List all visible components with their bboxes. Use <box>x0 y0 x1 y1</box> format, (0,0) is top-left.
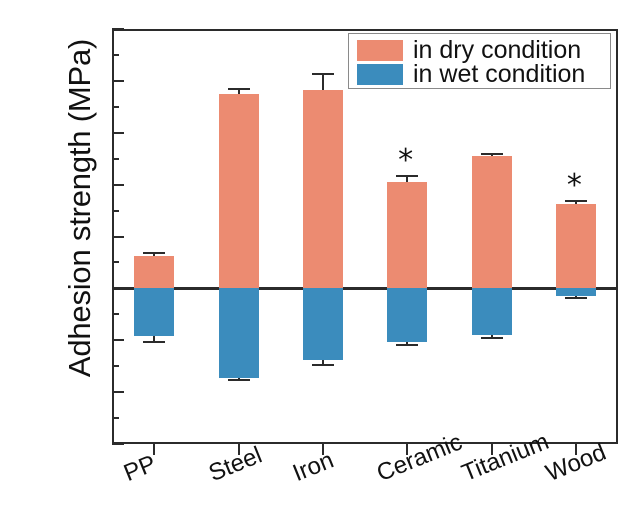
bar-dry-ceramic <box>387 182 427 288</box>
bar-wet-titanium <box>472 288 512 335</box>
error-bar-cap-dry-titanium <box>481 153 503 155</box>
bar-wet-ceramic <box>387 288 427 341</box>
bar-wet-iron <box>303 288 343 359</box>
y-axis-title: Adhesion strength (MPa) <box>62 0 98 418</box>
chart-figure: Adhesion strength (MPa) 1086420246 ** PP… <box>0 0 630 519</box>
error-bar-cap-wet-pp <box>143 341 165 343</box>
error-bar-cap-wet-steel <box>228 379 250 381</box>
bar-dry-iron <box>303 90 343 288</box>
bar-wet-wood <box>556 288 596 296</box>
bar-dry-titanium <box>472 156 512 288</box>
error-bar-cap-wet-titanium <box>481 337 503 339</box>
x-tick-label-iron: Iron <box>289 447 338 488</box>
zero-baseline <box>112 287 618 290</box>
bar-wet-steel <box>219 288 259 377</box>
error-bar-cap-wet-wood <box>565 297 587 299</box>
x-tick-label-pp: PP <box>120 450 160 488</box>
error-bar-cap-wet-iron <box>312 364 334 366</box>
significance-marker-ceramic: * <box>398 146 413 176</box>
x-tick-label-steel: Steel <box>205 442 266 488</box>
bar-wet-pp <box>134 288 174 336</box>
legend-swatch-dry <box>357 40 403 61</box>
x-tick-pp <box>153 444 155 455</box>
error-bar-stem-dry-iron <box>322 74 324 90</box>
legend-label-wet: in wet condition <box>413 61 585 87</box>
error-bar-cap-dry-pp <box>143 252 165 254</box>
legend: in dry condition in wet condition <box>348 33 611 89</box>
significance-marker-wood: * <box>567 171 582 201</box>
error-bar-cap-dry-iron <box>312 73 334 75</box>
bar-dry-wood <box>556 204 596 288</box>
error-bar-cap-dry-steel <box>228 88 250 90</box>
error-bar-cap-wet-ceramic <box>396 344 418 346</box>
bar-dry-pp <box>134 256 174 288</box>
bar-dry-steel <box>219 94 259 289</box>
plot-area <box>112 29 618 444</box>
legend-swatch-wet <box>357 64 403 85</box>
